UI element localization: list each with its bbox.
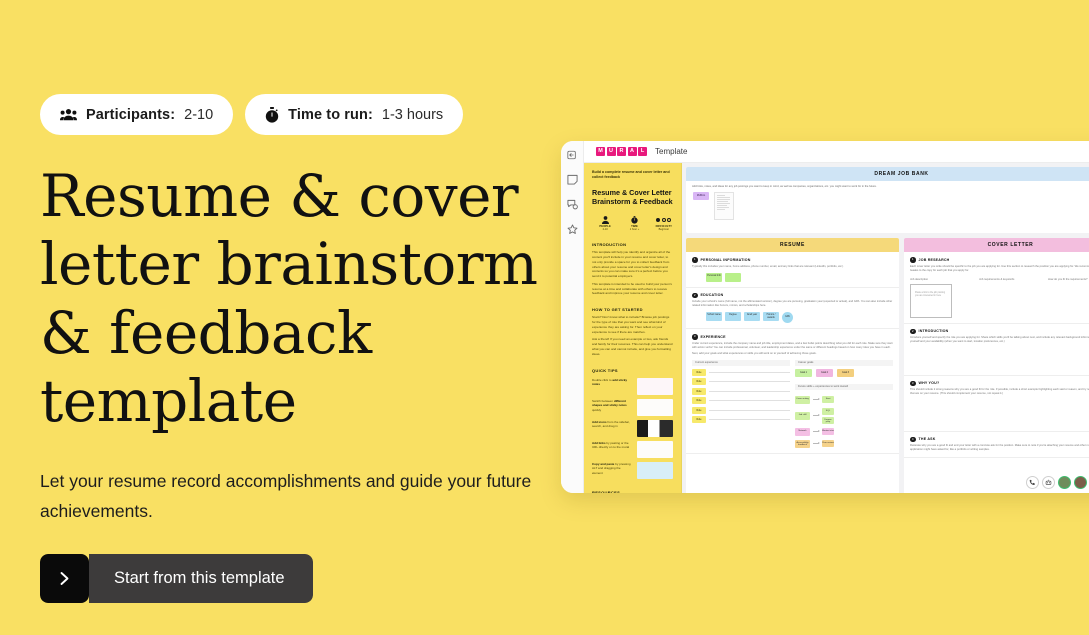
sticky-group: Personal Info bbox=[692, 273, 893, 282]
instructions-paragraph: Ask a friend! If you need an example or … bbox=[592, 337, 673, 356]
badge-time-value: 1-3 hours bbox=[382, 107, 443, 123]
instructions-title: Resume & Cover Letter Brainstorm & Feedb… bbox=[592, 188, 673, 206]
tip-thumbnail bbox=[637, 399, 673, 416]
role-row[interactable]: Role bbox=[692, 416, 790, 423]
badge-row: Participants: 2-10 Time to run: 1-3 hour… bbox=[40, 94, 560, 135]
avatar[interactable] bbox=[1074, 476, 1087, 489]
job-research-columns: Job description Job requirements & keywo… bbox=[910, 278, 1089, 281]
tip-bold: Add icons bbox=[592, 420, 607, 424]
flow-sticky[interactable]: Mentor intro bbox=[822, 428, 834, 435]
resume-column[interactable]: RESUME 1 PERSONAL INFORMATION Typically … bbox=[686, 238, 899, 493]
quick-tip-item: Copy and paste by pressing ALT and dragg… bbox=[592, 462, 673, 479]
sticky-note-icon[interactable] bbox=[567, 174, 578, 185]
page-title: Resume & cover letter brainstorm & feedb… bbox=[40, 162, 550, 436]
tip-thumbnail bbox=[637, 420, 673, 437]
flow-row[interactable]: Accessibility feedbackPeer review bbox=[795, 440, 893, 448]
instructions-section-heading: HOW TO GET STARTED bbox=[592, 307, 673, 312]
job-research-col-label: How do you fit the requirements? bbox=[1048, 278, 1089, 281]
section-title: EDUCATION bbox=[701, 293, 724, 297]
flow-sticky[interactable]: Job skill bbox=[795, 412, 810, 420]
role-line bbox=[709, 381, 790, 382]
tip-thumbnail bbox=[637, 378, 673, 395]
tip-tail: quickly bbox=[592, 408, 601, 412]
quick-tip-item: Double click to add sticky notes bbox=[592, 378, 673, 395]
instructions-paragraph: Stuck? Don't know what to include? Brows… bbox=[592, 315, 673, 334]
roles-list: Role Role Role Role Role Role bbox=[692, 369, 790, 424]
flow-row[interactable]: Cover writingStart bbox=[795, 396, 893, 404]
mural-logo: M U R A L bbox=[596, 147, 647, 156]
future-skills-label: Future skills + experiences to work towa… bbox=[795, 384, 893, 390]
logo-letter: M bbox=[596, 147, 605, 156]
job-research-col-label: Job requirements & keywords bbox=[979, 278, 1042, 281]
current-experience-label: Current experience bbox=[692, 360, 790, 366]
flow-sticky[interactable]: SQL bbox=[822, 408, 834, 415]
role-sticky[interactable]: Role bbox=[692, 407, 706, 414]
job-research-col-label: Job description bbox=[910, 278, 973, 281]
badge-participants: Participants: 2-10 bbox=[40, 94, 233, 135]
page-root: Participants: 2-10 Time to run: 1-3 hour… bbox=[0, 0, 1089, 635]
role-row[interactable]: Role bbox=[692, 407, 790, 414]
cover-letter-column-title: COVER LETTER bbox=[904, 238, 1089, 252]
badge-participants-label: Participants: bbox=[86, 107, 175, 123]
start-from-this-template-label[interactable]: Start from this template bbox=[89, 554, 313, 603]
badge-participants-value: 2-10 bbox=[184, 107, 213, 123]
meta-difficulty-value: Beginner bbox=[655, 228, 673, 231]
section-body: This should include 2 strong reasons why… bbox=[910, 388, 1089, 396]
section-number: 3 bbox=[692, 334, 698, 340]
dream-job-bank-items: MURAL bbox=[686, 188, 1089, 220]
role-sticky[interactable]: Role bbox=[692, 416, 706, 423]
section-introduction[interactable]: 2 INTRODUCTION Introduce yourself and sp… bbox=[904, 324, 1089, 376]
dream-job-bank-card[interactable]: DREAM JOB BANK Add links, notes, and ide… bbox=[686, 167, 1089, 233]
instructions-meta-row: PEOPLE 2-10 TIME 1 hour + bbox=[592, 215, 673, 231]
sticky-note[interactable]: Degree bbox=[725, 312, 741, 321]
topbar-title: Template bbox=[655, 147, 687, 156]
dream-job-bank-description: Add links, notes, and ideas for any job … bbox=[686, 181, 1089, 188]
section-number: 3 bbox=[910, 381, 916, 387]
meta-people: PEOPLE 2-10 bbox=[596, 215, 614, 231]
experience-grid: Current experience Role Role Role Role R… bbox=[692, 360, 893, 448]
sticky-note[interactable]: Personal Info bbox=[706, 273, 722, 282]
role-line bbox=[709, 372, 790, 373]
section-body-secondary: Next, add your goals and what experience… bbox=[692, 352, 893, 356]
section-personal-information[interactable]: 1 PERSONAL INFORMATION Typically this in… bbox=[686, 252, 899, 288]
quick-tips-list: Double click to add sticky notes Switch … bbox=[592, 378, 673, 479]
chevron-right-icon[interactable] bbox=[40, 554, 89, 603]
goals-row: Goal 1 Goal 2 Goal 3 bbox=[795, 369, 893, 377]
bot-icon[interactable] bbox=[1042, 476, 1055, 489]
arrow-icon bbox=[813, 415, 819, 416]
role-row[interactable]: Role bbox=[692, 369, 790, 376]
section-the-ask[interactable]: 4 THE ASK Reiterate why you are a good f… bbox=[904, 432, 1089, 459]
mural-topbar: M U R A L Template bbox=[584, 141, 1089, 163]
arrow-icon bbox=[813, 443, 819, 444]
section-job-research[interactable]: 1 JOB RESEARCH Each cover letter you wri… bbox=[904, 252, 1089, 324]
flow-sticky[interactable]: Accessibility feedback bbox=[795, 440, 810, 448]
tip-lead: Double click to bbox=[592, 378, 612, 382]
people-icon bbox=[596, 215, 614, 224]
template-instructions-panel[interactable]: Build a complete resume and cover letter… bbox=[584, 163, 682, 493]
resources-heading: RESOURCES bbox=[592, 490, 673, 494]
section-number: 2 bbox=[692, 293, 698, 299]
role-row[interactable]: Role bbox=[692, 397, 790, 404]
mural-left-rail bbox=[561, 141, 584, 493]
flow-sticky[interactable]: Network bbox=[795, 428, 810, 436]
section-title: INTRODUCTION bbox=[919, 329, 949, 333]
mural-canvas[interactable]: DREAM JOB BANK Add links, notes, and ide… bbox=[682, 163, 1089, 493]
flow-sticky[interactable]: Cover writing bbox=[795, 396, 810, 404]
section-title: EXPERIENCE bbox=[701, 335, 726, 339]
mural-body: Build a complete resume and cover letter… bbox=[584, 163, 1089, 493]
meta-time-value: 1 hour + bbox=[625, 228, 643, 231]
page-subtitle: Let your resume record accomplishments a… bbox=[40, 466, 535, 526]
instructions-paragraph: This template is intended to be used to … bbox=[592, 282, 673, 296]
collapse-panel-icon[interactable] bbox=[567, 150, 577, 160]
section-body: Typically this includes your name, home … bbox=[692, 265, 893, 269]
logo-letter: U bbox=[607, 147, 616, 156]
job-link-placeholder-text: Paste a link to the job posting you are … bbox=[915, 292, 947, 299]
logo-letter: L bbox=[638, 147, 647, 156]
career-goals-column: Career goals Goal 1 Goal 2 Goal 3 Future… bbox=[795, 360, 893, 448]
tip-lead: Switch between bbox=[592, 399, 613, 403]
section-number: 1 bbox=[910, 257, 916, 263]
logo-letter: R bbox=[617, 147, 626, 156]
role-line bbox=[709, 400, 790, 401]
meta-time: TIME 1 hour + bbox=[625, 215, 643, 231]
section-experience[interactable]: 3 EXPERIENCE Under current experience, i… bbox=[686, 329, 899, 454]
collaboration-toolbar[interactable]: + bbox=[1026, 476, 1089, 489]
start-from-this-template-button[interactable]: Start from this template bbox=[40, 554, 313, 603]
sticky-note[interactable]: MURAL bbox=[693, 192, 709, 200]
tip-thumbnail bbox=[637, 462, 673, 479]
flow-sticky[interactable]: Start bbox=[822, 396, 834, 403]
sticky-note[interactable]: Honors / awards bbox=[763, 312, 779, 321]
hero-section: Participants: 2-10 Time to run: 1-3 hour… bbox=[40, 94, 560, 603]
star-icon[interactable] bbox=[567, 224, 578, 235]
section-title: JOB RESEARCH bbox=[919, 258, 950, 262]
flow-row[interactable]: NetworkMentor intro bbox=[795, 428, 893, 436]
role-row[interactable]: Role bbox=[692, 378, 790, 385]
comment-icon[interactable] bbox=[567, 199, 578, 210]
meta-people-value: 2-10 bbox=[596, 228, 614, 231]
sticky-group: School name Degree Grad year Honors / aw… bbox=[692, 312, 893, 323]
section-body: Each cover letter you write should be sp… bbox=[910, 265, 1089, 273]
goal-sticky[interactable]: Goal 1 bbox=[795, 369, 812, 377]
time-icon bbox=[625, 215, 643, 224]
document-thumbnail[interactable] bbox=[714, 192, 734, 220]
section-title: THE ASK bbox=[919, 437, 936, 441]
career-goals-label: Career goals bbox=[795, 360, 893, 366]
role-line bbox=[709, 391, 790, 392]
tip-thumbnail bbox=[637, 441, 673, 458]
section-why-you[interactable]: 3 WHY YOU? This should include 2 strong … bbox=[904, 376, 1089, 432]
job-link-placeholder-box[interactable]: Paste a link to the job posting you are … bbox=[910, 284, 952, 318]
role-sticky[interactable]: Role bbox=[692, 388, 706, 395]
section-number: 2 bbox=[910, 329, 916, 335]
template-preview-card[interactable]: M U R A L Template Build a complete resu… bbox=[561, 141, 1089, 493]
quick-tip-item: Add icons from the sidebar, search, and … bbox=[592, 420, 673, 437]
role-sticky[interactable]: Role bbox=[692, 369, 706, 376]
participants-icon bbox=[60, 108, 77, 121]
instructions-paragraph: This template will help you identify and… bbox=[592, 250, 673, 279]
resume-column-title: RESUME bbox=[686, 238, 899, 252]
section-body: Under current experience, include the co… bbox=[692, 342, 893, 350]
sticky-note[interactable]: Grad year bbox=[744, 312, 760, 321]
flow-row[interactable]: Job skillSQLDegree prep bbox=[795, 408, 893, 424]
section-body: Introduce yourself and specify the role … bbox=[910, 336, 1089, 344]
section-title: PERSONAL INFORMATION bbox=[701, 258, 751, 262]
flow-sticky[interactable]: Peer review bbox=[822, 440, 834, 447]
badge-time: Time to run: 1-3 hours bbox=[245, 94, 463, 135]
quick-tip-item: Add links by pasting or the URL directly… bbox=[592, 441, 673, 458]
section-title: WHY YOU? bbox=[919, 381, 940, 385]
arrow-icon bbox=[813, 399, 819, 400]
role-row[interactable]: Role bbox=[692, 388, 790, 395]
section-body: Reiterate why you are a good fit and end… bbox=[910, 444, 1089, 452]
role-line bbox=[709, 419, 790, 420]
logo-letter: A bbox=[628, 147, 637, 156]
section-education[interactable]: 2 EDUCATION Include your school's name (… bbox=[686, 288, 899, 330]
mural-app: M U R A L Template Build a complete resu… bbox=[584, 141, 1089, 493]
section-number: 4 bbox=[910, 437, 916, 443]
phone-icon[interactable] bbox=[1026, 476, 1039, 489]
arrow-icon bbox=[813, 431, 819, 432]
difficulty-icon bbox=[655, 215, 673, 224]
flow-sticky[interactable]: Degree prep bbox=[822, 417, 834, 424]
canvas-columns: RESUME 1 PERSONAL INFORMATION Typically … bbox=[686, 238, 1089, 493]
goal-sticky[interactable]: Goal 2 bbox=[816, 369, 833, 377]
sticky-note[interactable] bbox=[725, 273, 741, 282]
tip-bold: Copy and paste bbox=[592, 462, 614, 466]
badge-time-label: Time to run: bbox=[288, 107, 373, 123]
tip-bold: Add links bbox=[592, 441, 606, 445]
meta-difficulty: DIFFICULTY Beginner bbox=[655, 215, 673, 231]
role-sticky[interactable]: Role bbox=[692, 378, 706, 385]
instructions-section-heading: INTRODUCTION bbox=[592, 242, 673, 247]
section-body: Include your school's name (full name, n… bbox=[692, 300, 893, 308]
cover-letter-column[interactable]: COVER LETTER 1 JOB RESEARCH Each cover l… bbox=[904, 238, 1089, 493]
sticky-note[interactable]: School name bbox=[706, 312, 722, 321]
quick-tip-item: Switch between different shapes and stic… bbox=[592, 399, 673, 416]
avatar[interactable] bbox=[1058, 476, 1071, 489]
sticky-note-circle[interactable]: GPA bbox=[782, 312, 793, 323]
dream-job-bank-title: DREAM JOB BANK bbox=[686, 167, 1089, 181]
role-sticky[interactable]: Role bbox=[692, 397, 706, 404]
section-number: 1 bbox=[692, 257, 698, 263]
quick-tips-heading: QUICK TIPS bbox=[592, 368, 673, 373]
goal-sticky[interactable]: Goal 3 bbox=[837, 369, 854, 377]
current-experience-column: Current experience Role Role Role Role R… bbox=[692, 360, 790, 448]
instructions-kicker: Build a complete resume and cover letter… bbox=[592, 170, 673, 181]
stopwatch-icon bbox=[265, 107, 279, 123]
future-skills-flow: Cover writingStart Job skillSQLDegree pr… bbox=[795, 396, 893, 448]
role-line bbox=[709, 410, 790, 411]
